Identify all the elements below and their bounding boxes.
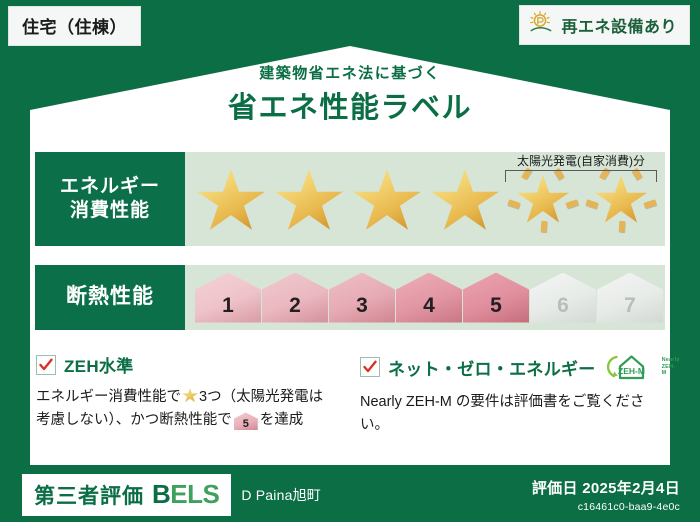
bels-letters-els: ELS <box>170 479 219 509</box>
grade-house-3: 3 <box>329 273 395 323</box>
svg-text:ZEH-M: ZEH-M <box>618 366 645 376</box>
check-icon <box>360 357 380 377</box>
solar-sun-icon <box>528 10 554 39</box>
zeh-standard-heading: ZEH水準 <box>36 352 336 377</box>
energy-performance-label: 住宅（住棟） 再エネ設備あり 建築物省エネ法に基づく 省エネ性能 <box>0 0 700 522</box>
insulation-grade-panel: 1 2 3 4 5 6 7 <box>185 265 665 330</box>
zeh-m-logo-subtext: Nearly ZEH-M <box>662 357 680 378</box>
zeh-desc-part1: エネルギー消費性能で <box>36 389 181 405</box>
zeh-m-sub-line2: ZEH-M <box>662 364 680 378</box>
zeh-standard-title: ZEH水準 <box>64 352 134 377</box>
footer-bar: 第三者評価 BELS D Paina旭町 評価日 2025年2月4日 c1646… <box>0 468 700 522</box>
star-icon <box>349 161 425 237</box>
pv-bracket <box>505 170 657 182</box>
net-zero-energy-description: Nearly ZEH-M の要件は評価書をご覧ください。 <box>360 391 660 438</box>
dwelling-type-tag: 住宅（住棟） <box>8 6 141 46</box>
property-name: D Paina旭町 <box>241 485 321 505</box>
net-zero-energy-section: ネット・ゼロ・エネルギー ZEH-M Nearly ZEH-M Nearly Z… <box>360 352 660 438</box>
net-zero-energy-title: ネット・ゼロ・エネルギー <box>388 355 596 380</box>
star-icon <box>182 388 198 403</box>
grade-house-2: 2 <box>262 273 328 323</box>
zeh-m-house-logo: ZEH-M <box>606 352 654 382</box>
net-zero-energy-heading: ネット・ゼロ・エネルギー ZEH-M Nearly ZEH-M <box>360 352 660 382</box>
label-subtitle: 建築物省エネ法に基づく <box>0 62 700 83</box>
evaluation-id: c16461c0-baa9-4e0c <box>532 501 680 513</box>
evaluation-date: 評価日 2025年2月4日 <box>532 477 680 498</box>
grade-house-1: 1 <box>195 273 261 323</box>
check-icon <box>36 355 56 375</box>
zeh-m-sub-line1: Nearly <box>662 357 680 364</box>
energy-performance-row: エネルギー 消費性能 太陽光発電(自家消費)分 <box>35 152 665 246</box>
energy-performance-stars-panel: 太陽光発電(自家消費)分 <box>185 152 665 246</box>
bels-letter-b: B <box>152 479 170 509</box>
bels-logo: 第三者評価 BELS <box>22 474 231 516</box>
grade-house-4: 4 <box>396 273 462 323</box>
energy-label-line1: エネルギー <box>60 175 160 199</box>
energy-performance-label-block: エネルギー 消費性能 <box>35 152 185 246</box>
evaluation-meta: 評価日 2025年2月4日 c16461c0-baa9-4e0c <box>532 477 680 513</box>
star-icon <box>193 161 269 237</box>
bels-wordmark: BELS <box>152 479 219 510</box>
pv-bracket-label: 太陽光発電(自家消費)分 <box>485 152 677 169</box>
grade-house-5: 5 <box>463 273 529 323</box>
bels-third-party-label: 第三者評価 <box>34 480 144 510</box>
renewable-tag-label: 再エネ設備あり <box>561 13 677 37</box>
insulation-grade-scale: 1 2 3 4 5 6 7 <box>185 273 665 323</box>
zeh-standard-section: ZEH水準 エネルギー消費性能で3つ（太陽光発電は考慮しない）、かつ断熱性能で5… <box>36 352 336 433</box>
grade-house-7: 7 <box>597 273 663 323</box>
star-icon <box>427 161 503 237</box>
star-icon <box>271 161 347 237</box>
grade-house-6: 6 <box>530 273 596 323</box>
zeh-desc-part3: を達成 <box>260 412 304 428</box>
label-title: 省エネ性能ラベル <box>0 84 700 126</box>
grade-badge-inline: 5 <box>234 412 258 430</box>
energy-label-line2: 消費性能 <box>70 199 150 223</box>
insulation-performance-row: 断熱性能 1 2 3 4 5 6 7 <box>35 265 665 330</box>
zeh-standard-description: エネルギー消費性能で3つ（太陽光発電は考慮しない）、かつ断熱性能で5を達成 <box>36 386 336 433</box>
insulation-performance-label-block: 断熱性能 <box>35 265 185 330</box>
renewable-equipment-tag: 再エネ設備あり <box>519 5 690 45</box>
